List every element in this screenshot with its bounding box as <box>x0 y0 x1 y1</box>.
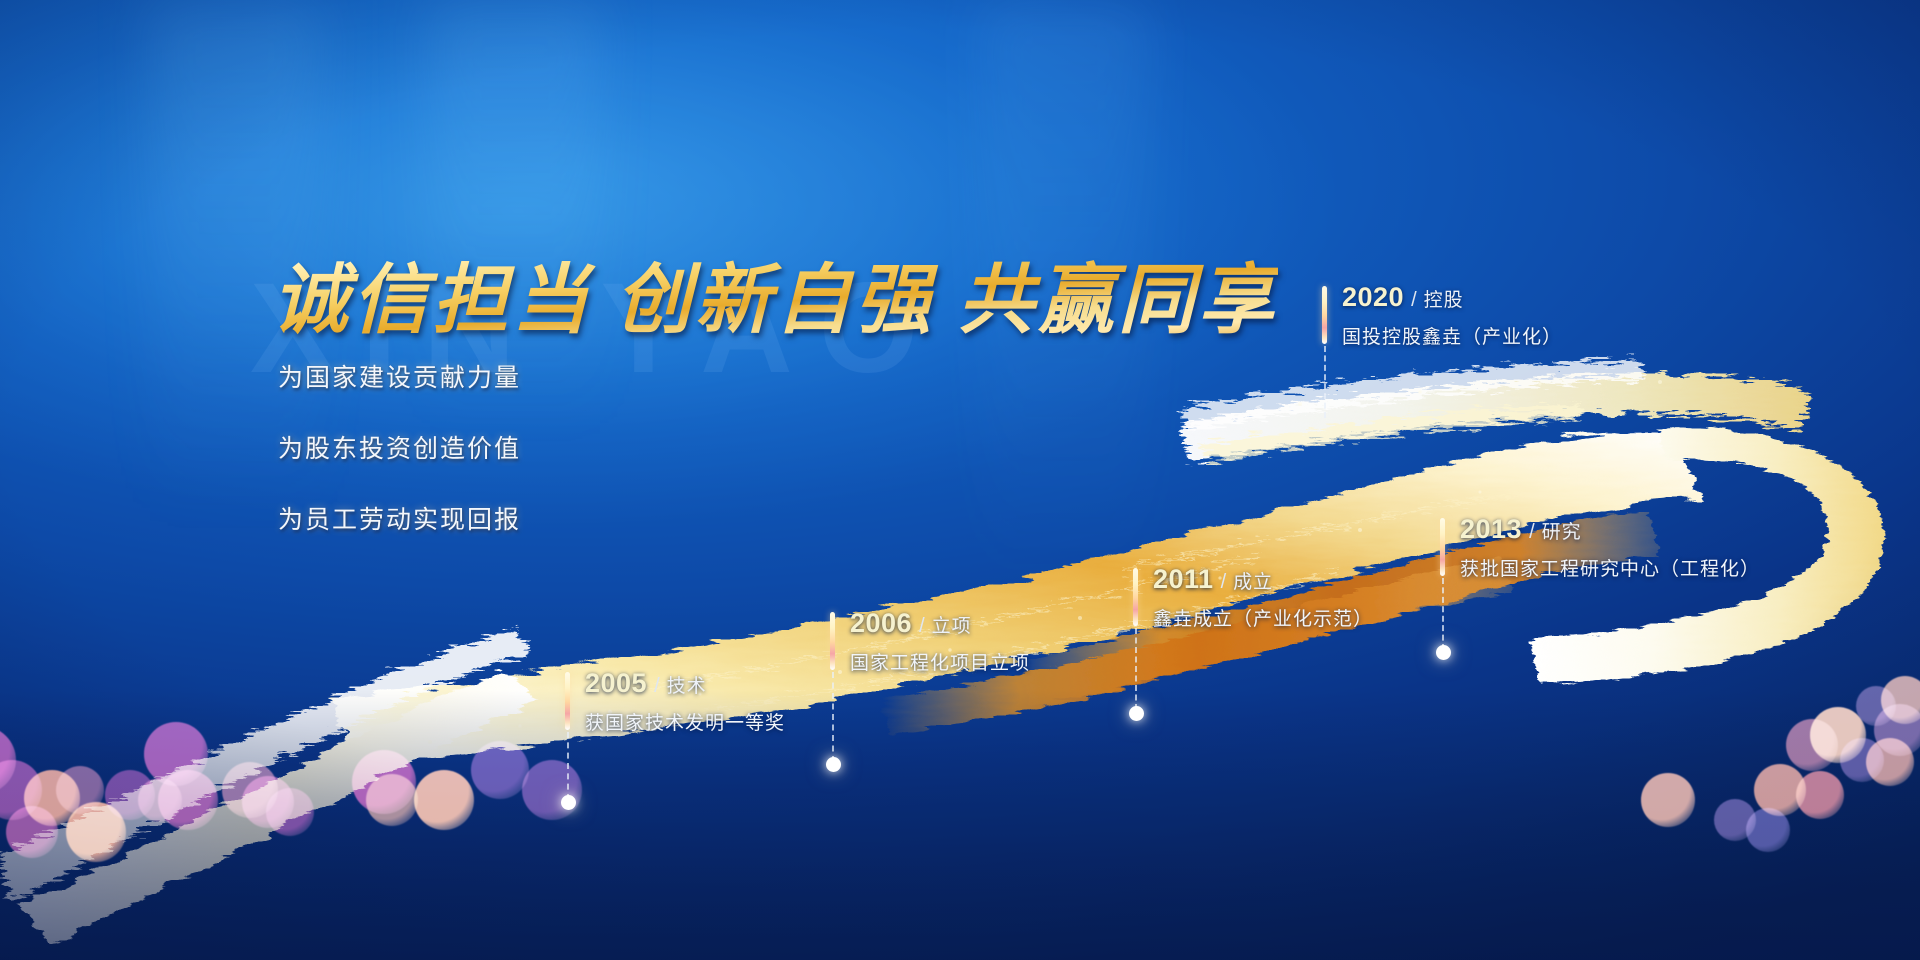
milestone-text: 2005 / 技术 获国家技术发明一等奖 <box>585 668 785 735</box>
page-title: 诚信担当 创新自强 共赢同享 <box>272 238 1278 348</box>
milestone-year: 2020 <box>1342 282 1404 312</box>
milestone-year: 2011 <box>1153 564 1214 594</box>
milestone-year: 2005 <box>585 668 647 698</box>
milestone-accent-bar <box>565 672 570 730</box>
milestone-separator: / <box>1411 289 1417 311</box>
milestone-dot-2011[interactable] <box>1129 706 1144 721</box>
bokeh-circle <box>6 806 58 858</box>
milestone-dot-2013[interactable] <box>1436 645 1451 660</box>
milestone-year: 2006 <box>850 608 912 638</box>
slogan-item: 为股东投资创造价值 <box>278 429 521 465</box>
milestone-description: 鑫垚成立（产业化示范） <box>1153 604 1373 631</box>
bokeh-circle <box>56 766 104 814</box>
milestone-separator: / <box>919 615 925 637</box>
bokeh-circle <box>266 788 314 836</box>
bokeh-circle <box>138 778 182 822</box>
bokeh-circle <box>1796 771 1844 819</box>
bokeh-circle <box>471 741 529 799</box>
milestone-separator: / <box>1529 521 1535 543</box>
milestone-accent-bar <box>1322 286 1327 344</box>
milestone-connector-2006 <box>832 672 834 762</box>
milestone-description: 获批国家工程研究中心（工程化） <box>1460 554 1760 581</box>
bokeh-circle <box>522 760 582 820</box>
milestone-year-row: 2011 / 成立 <box>1153 564 1373 595</box>
milestone-description: 国投控股鑫垚（产业化） <box>1342 322 1562 349</box>
milestone-separator: / <box>654 675 660 697</box>
bokeh-circle <box>1641 773 1695 827</box>
milestone-accent-bar <box>1133 568 1138 626</box>
milestone-year-row: 2020 / 控股 <box>1342 282 1562 313</box>
slogan-item: 为员工劳动实现回报 <box>278 500 521 536</box>
bokeh-circle <box>366 774 418 826</box>
milestone-text: 2011 / 成立 鑫垚成立（产业化示范） <box>1153 564 1373 631</box>
milestone-separator: / <box>1221 571 1227 593</box>
milestone-connector-2020 <box>1324 346 1326 418</box>
slogan-list: 为国家建设贡献力量 为股东投资创造价值 为员工劳动实现回报 <box>278 358 521 571</box>
milestone-text: 2013 / 研究 获批国家工程研究中心（工程化） <box>1460 514 1760 581</box>
milestone-year: 2013 <box>1460 514 1522 544</box>
milestone-description: 国家工程化项目立项 <box>850 648 1030 675</box>
milestone-year-row: 2005 / 技术 <box>585 668 785 699</box>
milestone-connector-2005 <box>567 732 569 800</box>
milestone-dot-2006[interactable] <box>826 757 841 772</box>
milestone-connector-2013 <box>1442 578 1444 650</box>
milestone-kind: 立项 <box>932 616 972 637</box>
banner-canvas: XIN YAO 诚信担当 创新自强 共赢同享 为国家建设贡献力量 为股东投资创造… <box>0 0 1920 960</box>
milestone-text: 2006 / 立项 国家工程化项目立项 <box>850 608 1030 675</box>
milestone-kind: 控股 <box>1424 290 1464 311</box>
milestone-connector-2011 <box>1135 628 1137 710</box>
milestone-year-row: 2006 / 立项 <box>850 608 1030 639</box>
milestone-text: 2020 / 控股 国投控股鑫垚（产业化） <box>1342 282 1562 349</box>
bokeh-circle <box>414 770 474 830</box>
milestone-dot-2005[interactable] <box>561 795 576 810</box>
bokeh-circle <box>1856 686 1896 726</box>
milestone-description: 获国家技术发明一等奖 <box>585 708 785 735</box>
slogan-item: 为国家建设贡献力量 <box>278 358 521 394</box>
milestone-kind: 技术 <box>667 676 707 697</box>
milestone-kind: 成立 <box>1233 572 1273 593</box>
milestone-year-row: 2013 / 研究 <box>1460 514 1760 545</box>
milestone-accent-bar <box>830 612 835 670</box>
milestone-kind: 研究 <box>1542 522 1582 543</box>
milestone-accent-bar <box>1440 518 1445 576</box>
